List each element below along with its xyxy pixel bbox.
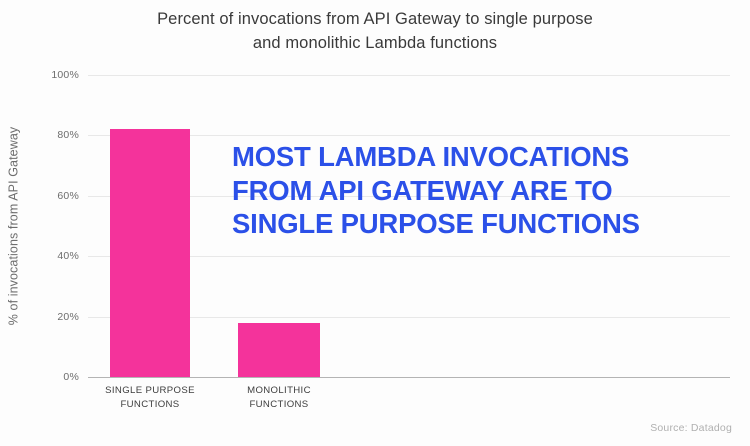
chart-annotation-line-3: SINGLE PURPOSE FUNCTIONS — [232, 207, 732, 241]
y-axis-title: % of invocations from API Gateway — [0, 75, 26, 377]
source-credit: Source: Datadog — [650, 422, 732, 434]
chart-title: Percent of invocations from API Gateway … — [60, 8, 690, 56]
bar-monolithic-functions — [238, 323, 320, 377]
y-axis-title-label: % of invocations from API Gateway — [6, 127, 20, 326]
gridline-100: 100% — [88, 75, 730, 76]
y-tick-label-60: 60% — [57, 190, 79, 202]
y-tick-label-100: 100% — [51, 69, 79, 81]
chart-annotation-line-1: MOST LAMBDA INVOCATIONS — [232, 140, 732, 174]
bar-single-purpose-functions — [110, 129, 190, 377]
bar-chart-figure: Percent of invocations from API Gateway … — [0, 0, 750, 446]
chart-annotation-line-2: FROM API GATEWAY ARE TO — [232, 174, 732, 208]
y-tick-label-20: 20% — [57, 311, 79, 323]
chart-title-line-2: and monolithic Lambda functions — [60, 32, 690, 56]
x-axis-label-monolithic-functions: MONOLITHIC FUNCTIONS — [189, 384, 369, 412]
y-tick-label-40: 40% — [57, 250, 79, 262]
chart-annotation-callout: MOST LAMBDA INVOCATIONS FROM API GATEWAY… — [232, 140, 732, 241]
chart-title-line-1: Percent of invocations from API Gateway … — [60, 8, 690, 32]
gridline-0: 0% — [88, 377, 730, 378]
y-tick-label-0: 0% — [63, 371, 79, 383]
x-axis-label-monolithic-line-2: FUNCTIONS — [189, 398, 369, 412]
y-tick-label-80: 80% — [57, 129, 79, 141]
x-axis-label-monolithic-line-1: MONOLITHIC — [189, 384, 369, 398]
